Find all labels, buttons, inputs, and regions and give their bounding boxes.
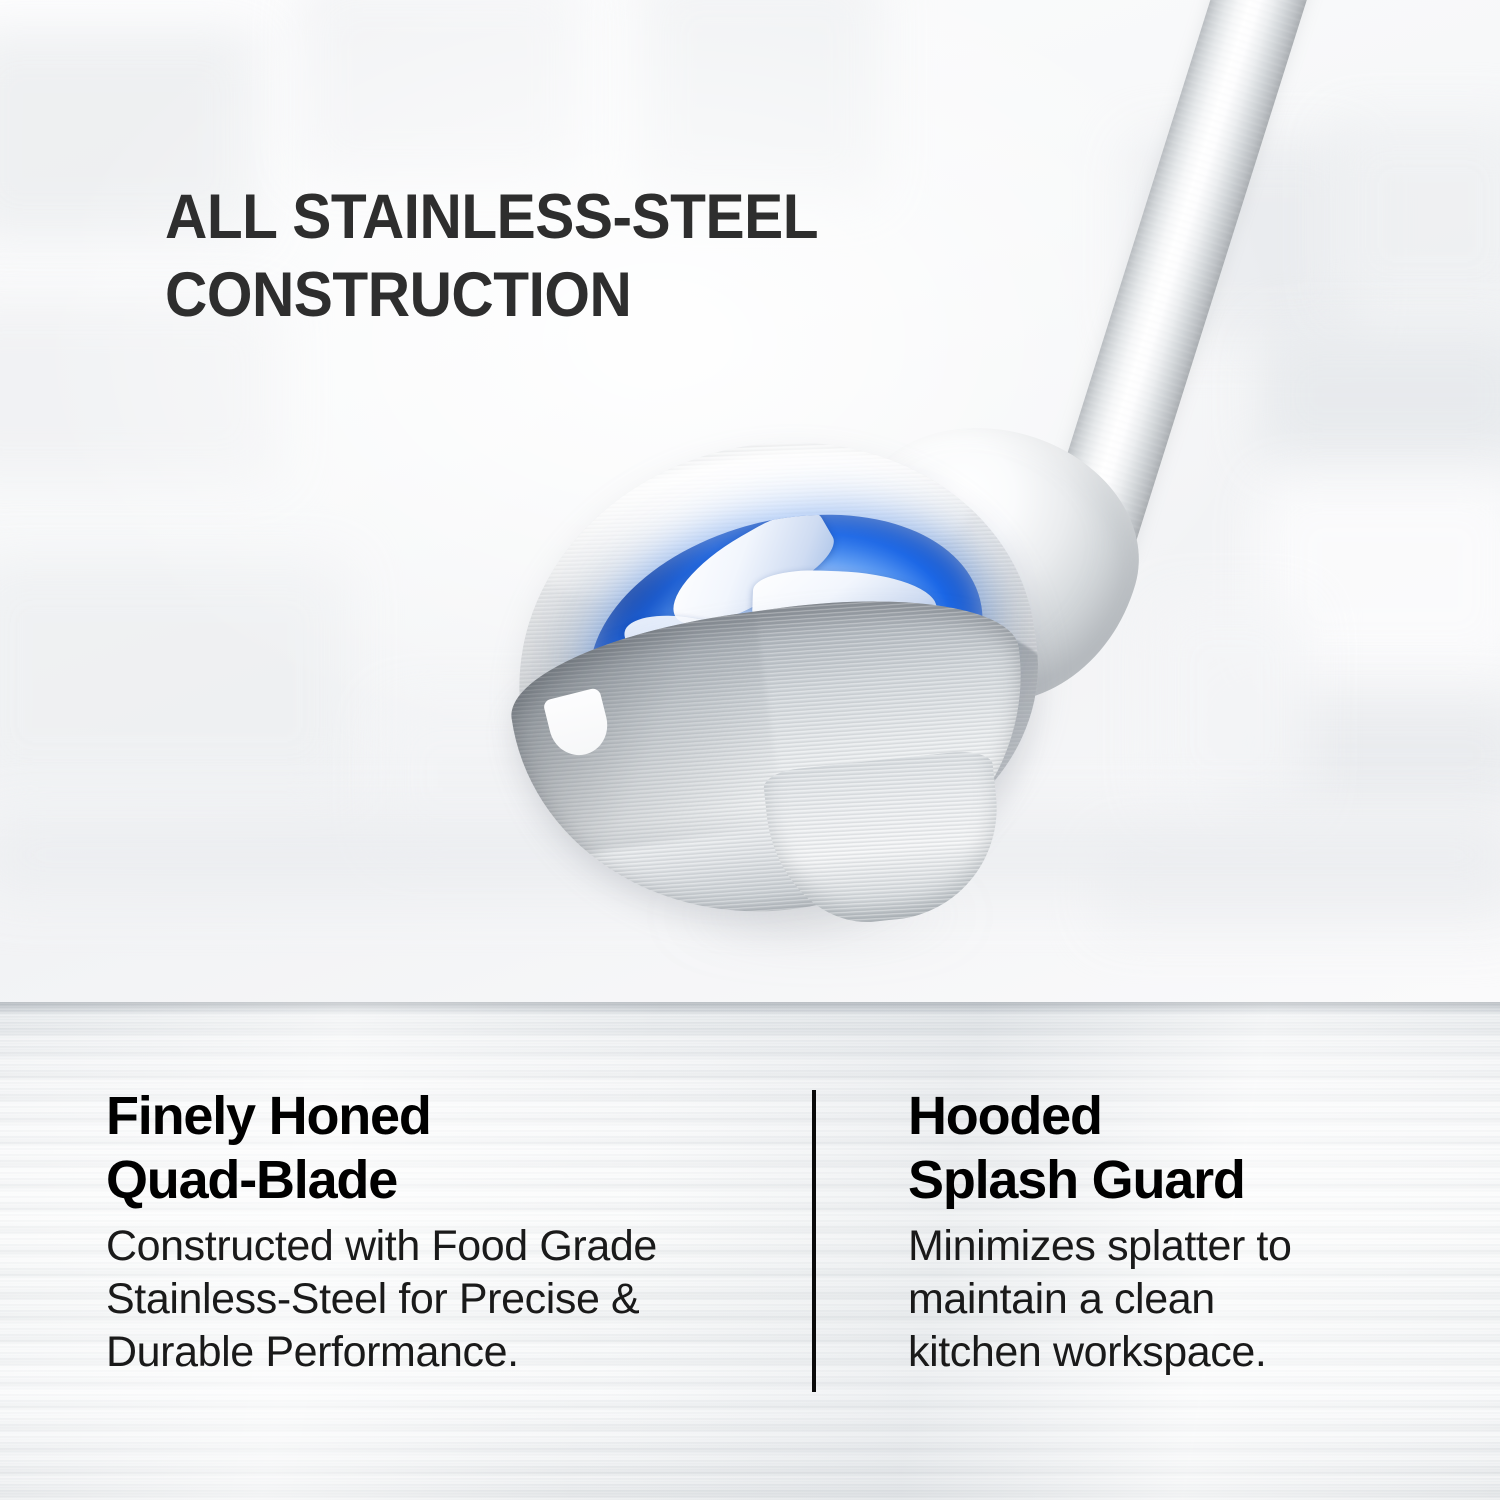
feature-item-splash-guard: Hooded Splash Guard Minimizes splatter t… xyxy=(908,1084,1428,1379)
feature-title: Hooded Splash Guard xyxy=(908,1084,1428,1212)
feature-description: Minimizes splatter to maintain a clean k… xyxy=(908,1220,1428,1379)
rim-shadow xyxy=(502,611,786,862)
foot-brushed-texture xyxy=(762,748,1007,931)
feature-item-quad-blade: Finely Honed Quad-Blade Constructed with… xyxy=(106,1084,786,1379)
feature-title: Finely Honed Quad-Blade xyxy=(106,1084,786,1212)
feature-description: Constructed with Food Grade Stainless-St… xyxy=(106,1220,786,1379)
blender-foot-stub xyxy=(762,748,1007,931)
product-image xyxy=(0,0,1500,1002)
product-feature-graphic: ALL STAINLESS-STEEL CONSTRUCTION xyxy=(0,0,1500,1500)
feature-divider xyxy=(812,1090,816,1392)
feature-list: Finely Honed Quad-Blade Constructed with… xyxy=(0,1002,1500,1500)
hero-section: ALL STAINLESS-STEEL CONSTRUCTION xyxy=(0,0,1500,1002)
